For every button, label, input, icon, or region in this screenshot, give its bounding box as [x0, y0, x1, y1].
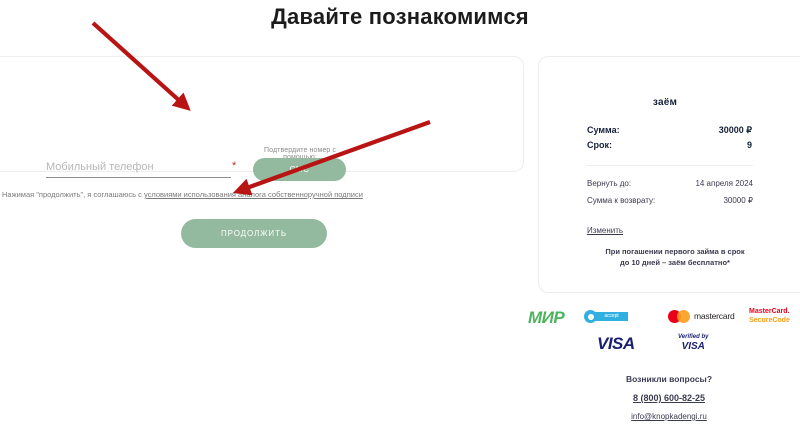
- payment-logos: МИР accept mastercard MasterCard. Secure…: [520, 303, 800, 358]
- summary-row-return-sum: Сумма к возврату: 30000 ₽: [587, 196, 753, 205]
- promo-note: При погашении первого займа в срок до 10…: [565, 247, 785, 269]
- loan-summary-card: заём Сумма: 30000 ₽ Срок: 9 Вернуть до: …: [538, 56, 800, 293]
- loan-summary-title: заём: [539, 97, 791, 108]
- change-loan-link[interactable]: Изменить: [587, 226, 623, 235]
- contacts-title: Возникли вопросы?: [538, 374, 800, 384]
- summary-row-return-date: Вернуть до: 14 апреля 2024: [587, 179, 753, 188]
- verified-top-label: Verified by: [678, 334, 708, 341]
- securecode-bottom-label: SecureCode: [749, 317, 790, 326]
- term-value: 9: [747, 140, 752, 150]
- phone-input[interactable]: [46, 161, 231, 178]
- phone-field-wrapper: [46, 157, 231, 178]
- mir-accept-label: accept: [595, 312, 628, 321]
- mastercard-yellow-circle-icon: [677, 310, 690, 323]
- mastercard-logo-icon: mastercard: [668, 310, 735, 323]
- consent-text: Нажимая "продолжить", я соглашаюсь с усл…: [2, 190, 363, 199]
- mastercard-label: mastercard: [694, 312, 735, 321]
- summary-divider: [587, 165, 753, 166]
- mastercard-circles-icon: [668, 310, 690, 323]
- contacts-block: Возникли вопросы? 8 (800) 600-82-25 info…: [538, 374, 800, 421]
- continue-button[interactable]: ПРОДОЛЖИТЬ: [181, 219, 327, 248]
- registration-form-card: * Подтвердите номер с помощью: СМС: [0, 56, 524, 172]
- verified-bottom-label: VISA: [678, 341, 708, 353]
- return-sum-label: Сумма к возврату:: [587, 196, 655, 205]
- summary-row-amount: Сумма: 30000 ₽: [587, 125, 752, 136]
- term-label: Срок:: [587, 140, 612, 150]
- return-date-label: Вернуть до:: [587, 179, 631, 188]
- mir-accept-ring-icon: [584, 310, 597, 323]
- contacts-email-link[interactable]: info@knopkadengi.ru: [538, 412, 800, 421]
- consent-agreement-link[interactable]: условиями использования аналога собствен…: [144, 190, 363, 199]
- consent-prefix: Нажимая "продолжить", я соглашаюсь с: [2, 190, 144, 199]
- page-title: Давайте познакомимся: [0, 4, 800, 30]
- page-root: Давайте познакомимся * Подтвердите номер…: [0, 0, 800, 424]
- contacts-phone-link[interactable]: 8 (800) 600-82-25: [538, 393, 800, 403]
- mastercard-securecode-logo-icon: MasterCard. SecureCode: [749, 308, 790, 326]
- mir-logo-icon: МИР: [528, 309, 564, 326]
- amount-label: Сумма:: [587, 125, 620, 135]
- promo-line-1: При погашении первого займа в срок: [565, 247, 785, 258]
- return-sum-value: 30000 ₽: [723, 196, 753, 205]
- sms-confirm-button[interactable]: СМС: [253, 158, 346, 181]
- mir-accept-logo-icon: accept: [584, 310, 628, 323]
- verified-by-visa-logo-icon: Verified by VISA: [678, 334, 708, 352]
- visa-logo-icon: VISA: [597, 335, 635, 352]
- amount-value: 30000 ₽: [719, 125, 752, 136]
- summary-row-term: Срок: 9: [587, 140, 752, 150]
- securecode-top-label: MasterCard.: [749, 308, 790, 317]
- promo-line-2: до 10 дней – заём бесплатно*: [565, 258, 785, 269]
- return-date-value: 14 апреля 2024: [695, 179, 753, 188]
- required-marker: *: [232, 161, 236, 172]
